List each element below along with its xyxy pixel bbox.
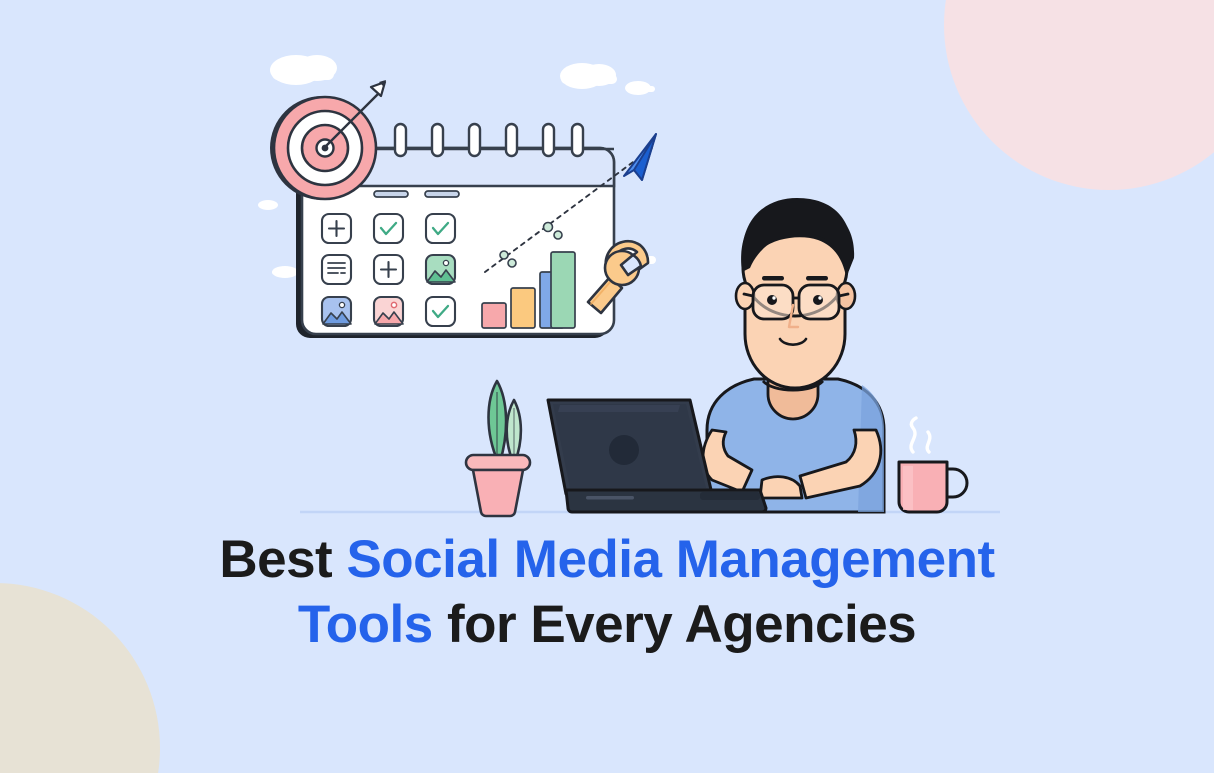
heading-line2-accent: Tools	[298, 595, 433, 654]
cloud-top-left	[270, 55, 337, 85]
heading-line-1: Best Social Media Management	[0, 528, 1214, 593]
calendar-cell-plus[interactable]	[322, 214, 351, 243]
calendar-cell-plus[interactable]	[374, 255, 403, 284]
calendar-cell-image-blue[interactable]	[322, 297, 351, 326]
cloud-left-small	[258, 200, 278, 210]
potted-plant	[466, 381, 530, 516]
calendar-cell-image-green[interactable]	[426, 255, 455, 284]
calendar-cell-text-lines[interactable]	[322, 255, 351, 284]
calendar-cell-image-pink[interactable]	[374, 297, 403, 326]
heading-line-2: Tools for Every Agencies	[0, 593, 1214, 658]
steam-icon	[911, 418, 930, 452]
page-title: Best Social Media Management Tools for E…	[0, 528, 1214, 657]
heading-line2-plain: for Every Agencies	[433, 595, 916, 654]
paper-plane-icon	[624, 134, 656, 180]
cloud-top-right	[625, 81, 655, 95]
calendar-cell-check[interactable]	[426, 297, 455, 326]
banner: Best Social Media Management Tools for E…	[0, 0, 1214, 773]
heading-line1-accent: Social Media Management	[346, 530, 994, 589]
calendar-cell-check[interactable]	[374, 214, 403, 243]
cloud-top-mid	[560, 63, 617, 89]
coffee-mug	[899, 418, 967, 512]
calendar-cell-check[interactable]	[426, 214, 455, 243]
heading-line1-plain: Best	[219, 530, 346, 589]
person-at-laptop	[703, 198, 884, 512]
